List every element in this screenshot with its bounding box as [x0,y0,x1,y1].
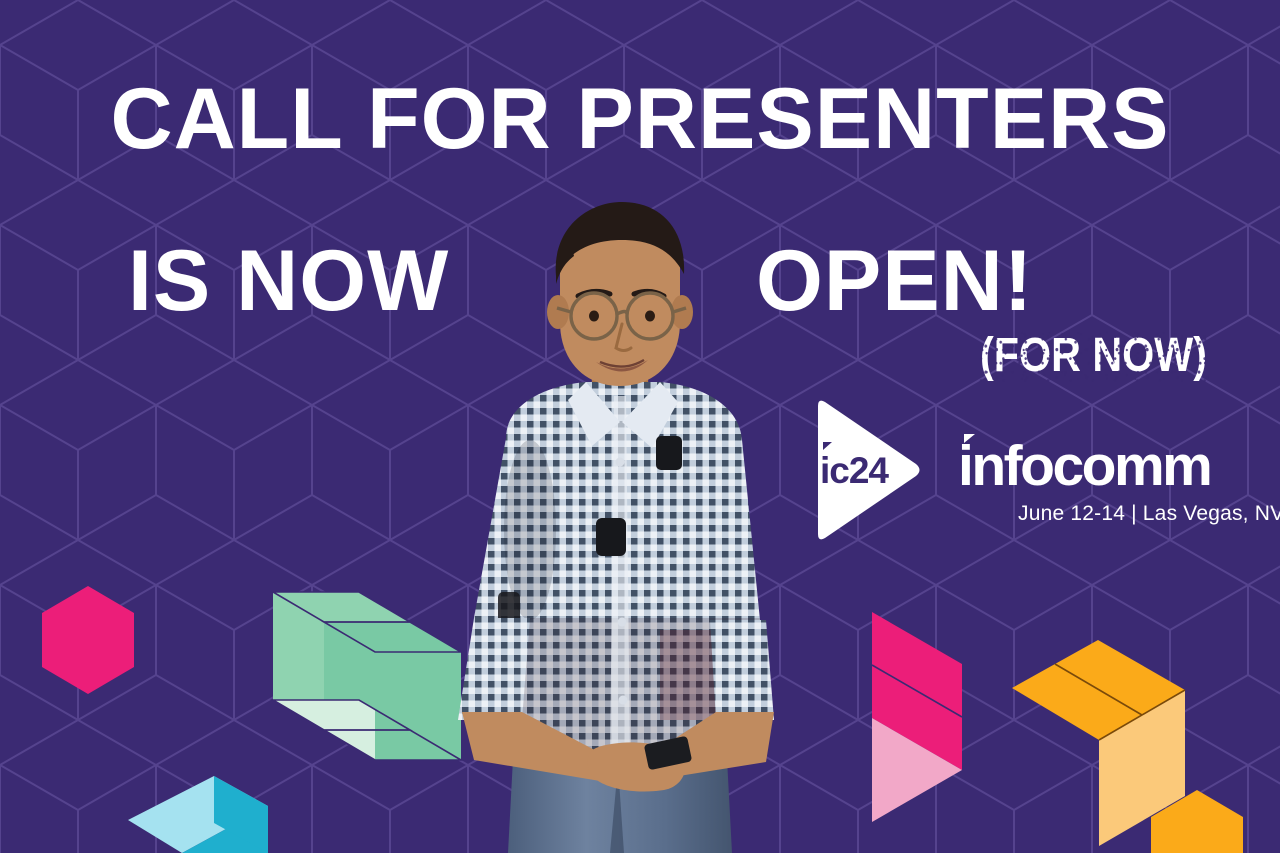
ic24-badge-text: ic24 [820,452,888,489]
headline-line-1: CALL FOR PRESENTERS [0,76,1280,162]
infocomm-logo-lockup: ic24 infocomm June 12-14 | Las Vegas, NV [806,396,1256,546]
shape-cyan-isometric-cube [128,776,268,853]
presenter-lapel-mic [656,436,682,470]
ic24-play-badge: ic24 [806,396,922,544]
headline-line-3: OPEN! [756,238,1033,324]
headline-subnote: (FOR NOW) [980,332,1207,380]
presenter-left-sleeve [458,618,530,720]
headline-line-2: IS NOW [128,238,449,324]
ic24-badge-flag [823,442,832,450]
shape-magenta-parallelogram-stack [872,612,962,822]
presenter-mic-clip [596,518,626,556]
presenter-right-sleeve [710,620,774,720]
shape-magenta-hexagon [42,586,134,694]
event-details: June 12-14 | Las Vegas, NV [1018,502,1280,526]
promo-poster: CALL FOR PRESENTERS IS NOW OPEN! (FOR NO… [0,0,1280,853]
infocomm-wordmark: infocomm [958,438,1210,495]
headline-subnote-text: (FOR NOW) [980,332,1207,380]
